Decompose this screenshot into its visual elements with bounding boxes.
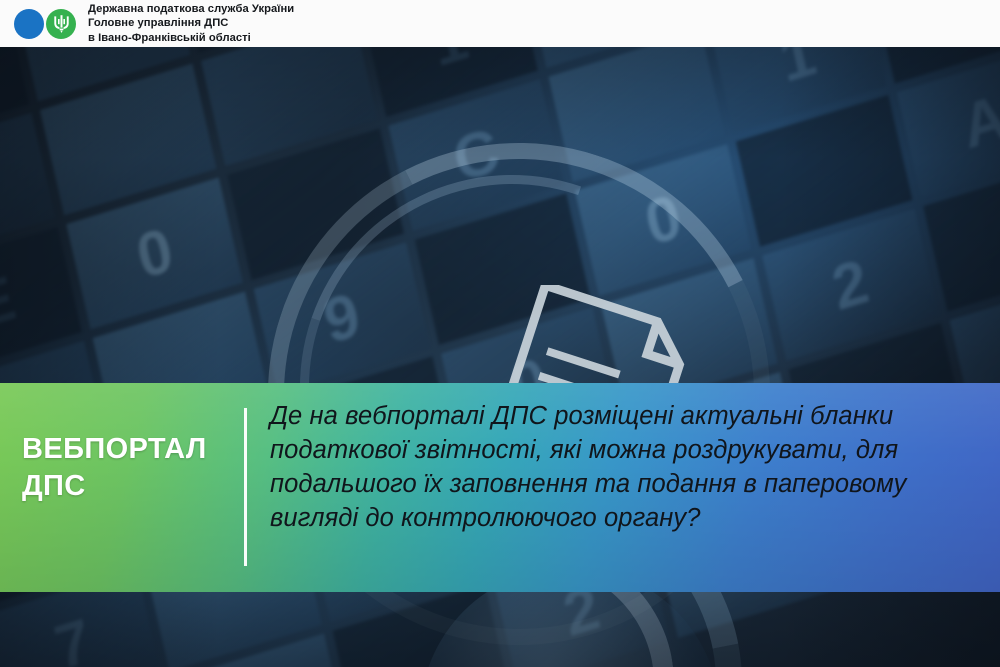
band-category-label: ВЕБПОРТАЛ ДПС bbox=[22, 431, 227, 505]
header-title-line-1: Державна податкова служба України bbox=[88, 2, 294, 16]
tryzub-icon bbox=[46, 9, 76, 39]
banner-root: Державна податкова служба України Головн… bbox=[0, 0, 1000, 667]
header-title-line-2: Головне управління ДПС bbox=[88, 16, 294, 30]
band-vertical-divider bbox=[244, 408, 247, 566]
band-question-text: Де на вебпорталі ДПС розміщені актуальні… bbox=[270, 399, 986, 536]
logo-blue-circle-icon bbox=[14, 9, 44, 39]
header-title-line-3: в Івано-Франківській області bbox=[88, 31, 294, 45]
caption-band: ВЕБПОРТАЛ ДПС Де на вебпорталі ДПС розмі… bbox=[0, 383, 1000, 592]
site-header: Державна податкова служба України Головн… bbox=[0, 0, 1000, 47]
header-organisation-titles: Державна податкова служба України Головн… bbox=[88, 2, 294, 45]
dps-logo[interactable] bbox=[14, 7, 82, 41]
